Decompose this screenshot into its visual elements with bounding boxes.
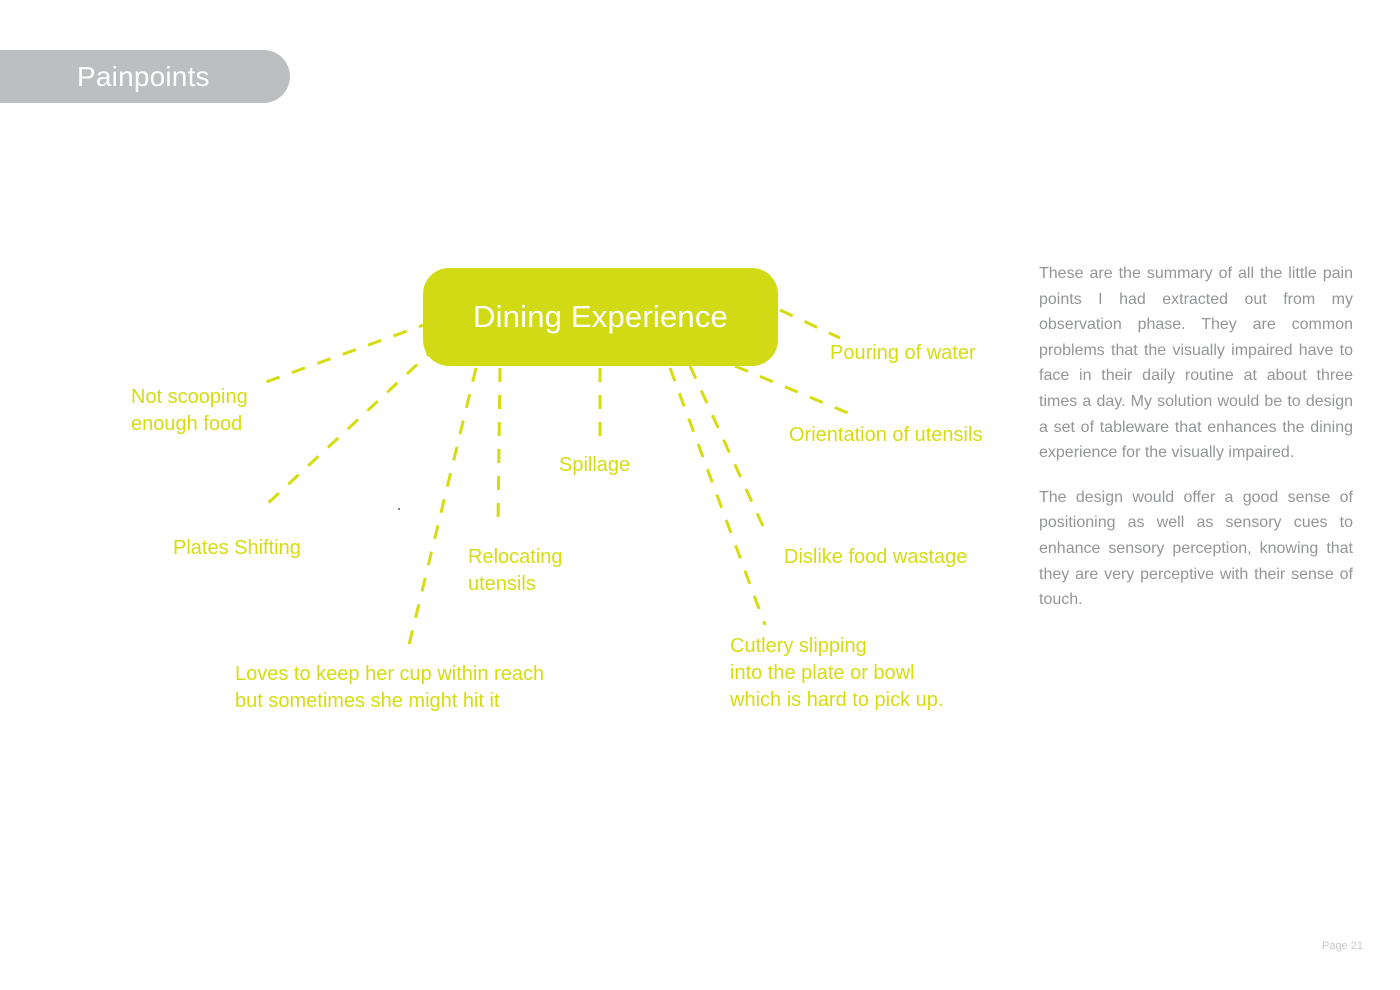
notes-column: These are the summary of all the little … — [1039, 261, 1353, 613]
notes-paragraph: The design would offer a good sense of p… — [1039, 485, 1353, 613]
mindmap-leaf-plates-shifting: Plates Shifting — [173, 535, 301, 562]
connector-to-loves-cup — [408, 368, 476, 649]
notes-paragraph: These are the summary of all the little … — [1039, 261, 1353, 466]
connector-to-plates-shifting — [265, 346, 437, 506]
mindmap-leaf-not-scooping: Not scooping enough food — [131, 384, 248, 438]
mindmap-leaf-loves-cup: Loves to keep her cup within reach but s… — [235, 661, 544, 715]
stray-dot-artifact — [398, 508, 400, 510]
connector-to-orientation — [735, 366, 855, 416]
connector-to-relocating — [498, 368, 500, 525]
connector-to-pouring — [780, 310, 840, 338]
mindmap-leaf-orientation: Orientation of utensils — [789, 422, 982, 449]
mindmap-center-label: Dining Experience — [473, 299, 728, 335]
mindmap-leaf-pouring-water: Pouring of water — [830, 340, 976, 367]
mindmap-leaf-cutlery-slipping: Cutlery slipping into the plate or bowl … — [730, 633, 943, 714]
slide-canvas: Painpoints Dining Experience Not scoopin… — [0, 0, 1400, 990]
mindmap-center-node: Dining Experience — [423, 268, 778, 366]
page-number: Page 21 — [1322, 940, 1363, 952]
mindmap-leaf-dislike-wastage: Dislike food wastage — [784, 544, 967, 571]
mindmap-leaf-relocating: Relocating utensils — [468, 544, 563, 598]
mindmap-leaf-spillage: Spillage — [559, 452, 630, 479]
